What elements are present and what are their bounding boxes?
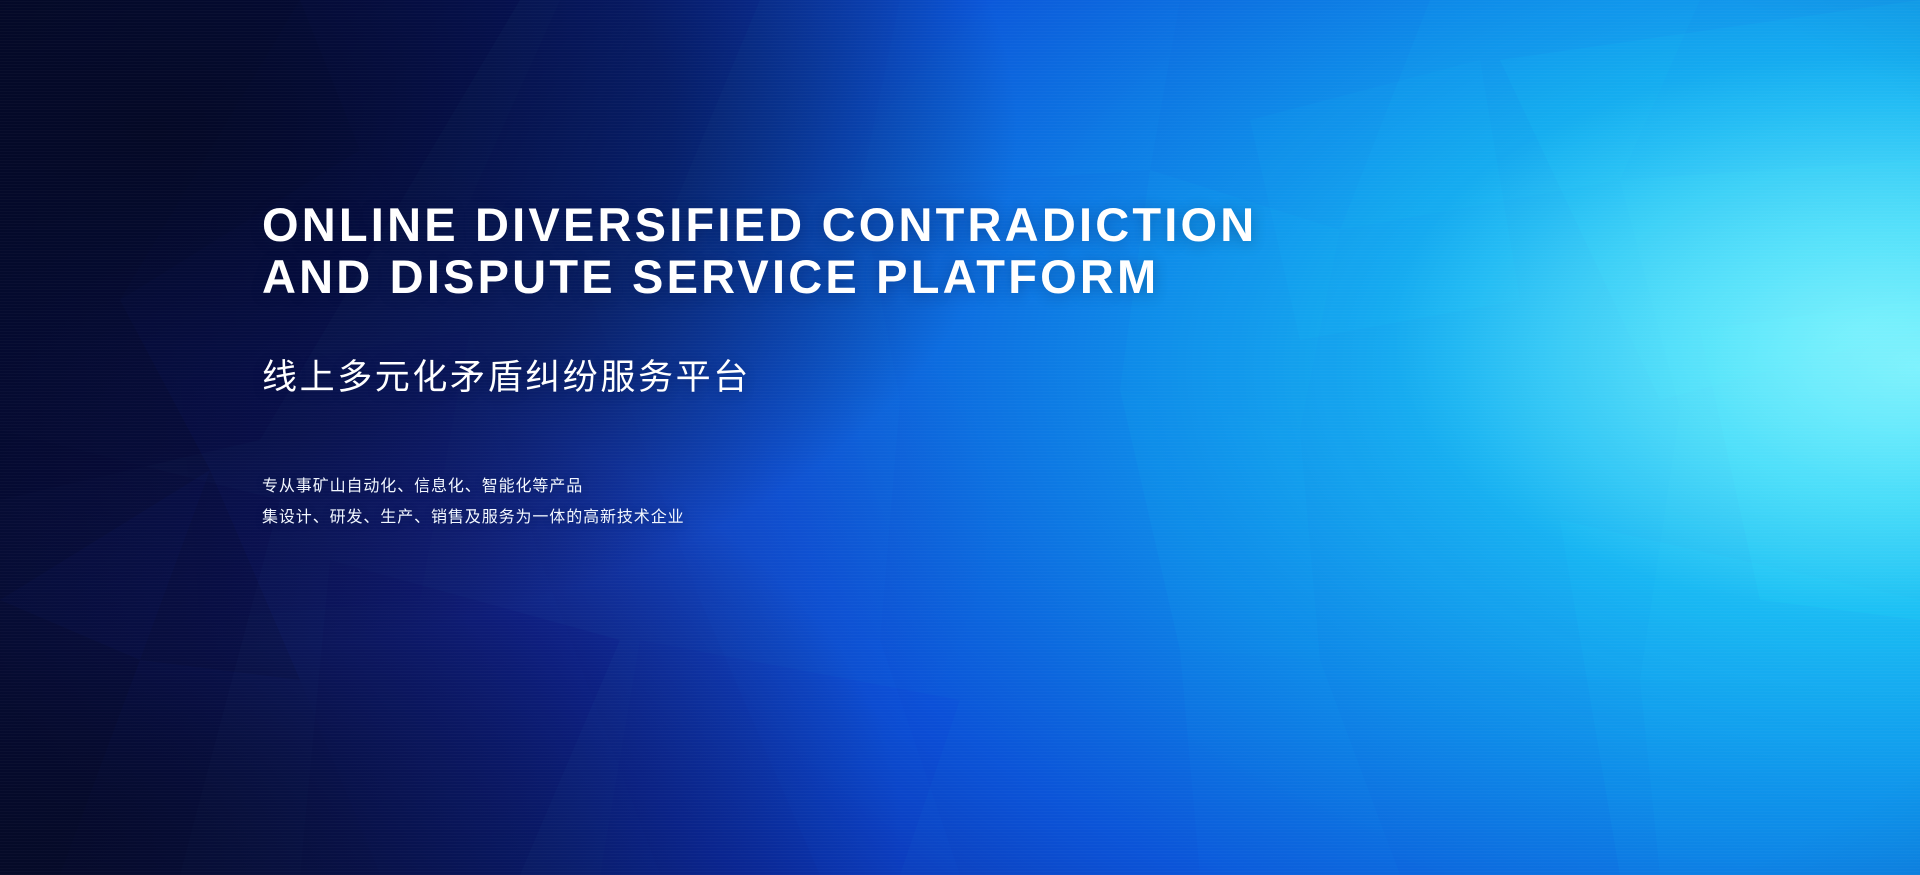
- banner-subtitle: 线上多元化矛盾纠纷服务平台: [262, 357, 1462, 399]
- description-line-2: 集设计、研发、生产、销售及服务为一体的高新技术企业: [262, 502, 1462, 533]
- banner-content: ONLINE DIVERSIFIED CONTRADICTION AND DIS…: [262, 0, 1462, 875]
- banner-headline: ONLINE DIVERSIFIED CONTRADICTION AND DIS…: [262, 199, 1382, 303]
- headline-line-2: AND DISPUTE SERVICE PLATFORM: [262, 251, 1382, 303]
- banner-description: 专从事矿山自动化、信息化、智能化等产品 集设计、研发、生产、销售及服务为一体的高…: [262, 471, 1462, 533]
- description-line-1: 专从事矿山自动化、信息化、智能化等产品: [262, 471, 1462, 502]
- headline-line-1: ONLINE DIVERSIFIED CONTRADICTION: [262, 199, 1382, 251]
- hero-banner: ONLINE DIVERSIFIED CONTRADICTION AND DIS…: [0, 0, 1920, 875]
